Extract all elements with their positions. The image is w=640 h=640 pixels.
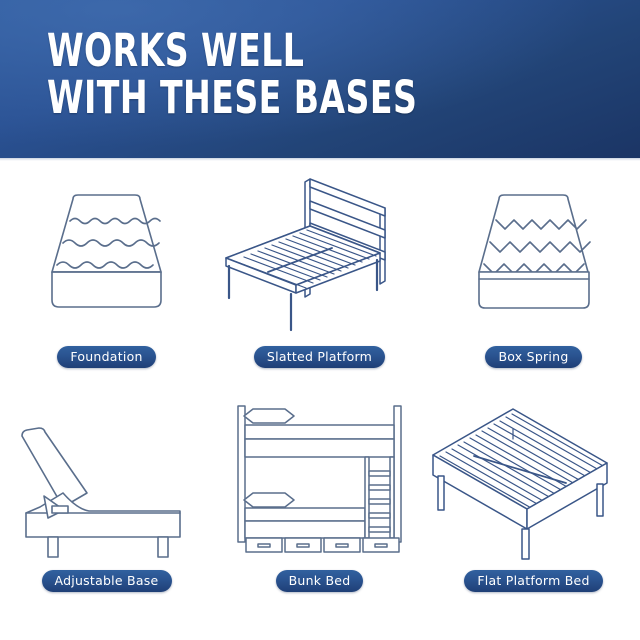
box-spring-icon — [427, 168, 640, 343]
bunk-bed-icon — [213, 392, 426, 567]
base-label-box-spring[interactable]: Box Spring — [485, 346, 581, 368]
mattress-foundation-icon — [0, 168, 213, 343]
slatted-platform-bed-icon — [213, 168, 426, 343]
base-card-adjustable-base[interactable]: Adjustable Base — [0, 392, 213, 624]
base-card-flat-platform-bed[interactable]: Flat Platform Bed — [427, 392, 640, 624]
base-label-wrap: Foundation — [0, 346, 213, 368]
flat-platform-bed-icon — [427, 392, 640, 567]
base-label-wrap: Box Spring — [427, 346, 640, 368]
base-card-slatted-platform[interactable]: Slatted Platform — [213, 168, 426, 400]
base-label-adjustable-base[interactable]: Adjustable Base — [42, 570, 172, 592]
base-label-foundation[interactable]: Foundation — [57, 346, 155, 368]
base-label-wrap: Slatted Platform — [213, 346, 426, 368]
base-label-flat-platform-bed[interactable]: Flat Platform Bed — [464, 570, 602, 592]
base-card-foundation[interactable]: Foundation — [0, 168, 213, 400]
header-banner: WORKS WELL WITH THESE BASES — [0, 0, 640, 158]
base-label-wrap: Flat Platform Bed — [427, 570, 640, 592]
base-card-box-spring[interactable]: Box Spring — [427, 168, 640, 400]
works-well-with-these-bases-infographic: WORKS WELL WITH THESE BASES Fo — [0, 0, 640, 640]
base-label-wrap: Adjustable Base — [0, 570, 213, 592]
base-label-slatted-platform[interactable]: Slatted Platform — [254, 346, 385, 368]
page-title: WORKS WELL WITH THESE BASES — [47, 27, 417, 121]
base-label-bunk-bed[interactable]: Bunk Bed — [276, 570, 364, 592]
bases-grid: Foundation — [0, 160, 640, 640]
base-label-wrap: Bunk Bed — [213, 570, 426, 592]
adjustable-base-icon — [0, 392, 213, 567]
base-card-bunk-bed[interactable]: Bunk Bed — [213, 392, 426, 624]
